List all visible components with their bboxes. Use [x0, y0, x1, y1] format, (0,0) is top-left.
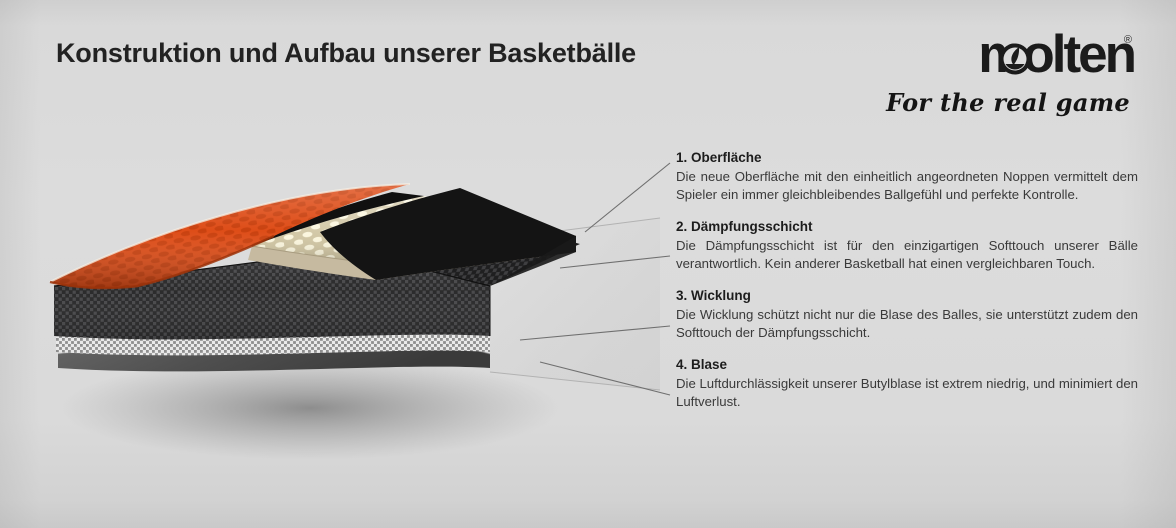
callout-title-4: 4. Blase [676, 357, 1138, 372]
callout-item-blase: 4. Blase Die Luftdurchlässigkeit unserer… [676, 357, 1138, 410]
callout-body-1: Die neue Oberfläche mit den einheitlich … [676, 168, 1138, 203]
callout-title-2: 2. Dämpfungsschicht [676, 219, 1138, 234]
callout-body-3: Die Wicklung schützt nicht nur die Blase… [676, 306, 1138, 341]
page-title: Konstruktion und Aufbau unserer Basketbä… [56, 38, 636, 69]
callout-list: 1. Oberfläche Die neue Oberfläche mit de… [676, 150, 1138, 426]
callout-item-daempfungsschicht: 2. Dämpfungsschicht Die Dämpfungsschicht… [676, 219, 1138, 272]
callout-body-4: Die Luftdurchlässigkeit unserer Butylbla… [676, 375, 1138, 410]
callout-item-oberflaeche: 1. Oberfläche Die neue Oberfläche mit de… [676, 150, 1138, 203]
callout-title-3: 3. Wicklung [676, 288, 1138, 303]
callout-body-2: Die Dämpfungsschicht ist für den einziga… [676, 237, 1138, 272]
brand-tagline: For the real game [886, 88, 1130, 117]
callout-title-1: 1. Oberfläche [676, 150, 1138, 165]
basketball-layer-cutaway-diagram [20, 140, 680, 500]
poster-canvas: Konstruktion und Aufbau unserer Basketbä… [0, 0, 1176, 528]
diagram-drop-shadow [60, 356, 560, 460]
callout-item-wicklung: 3. Wicklung Die Wicklung schützt nicht n… [676, 288, 1138, 341]
brand-logo: molten ® For the real game [904, 28, 1134, 114]
